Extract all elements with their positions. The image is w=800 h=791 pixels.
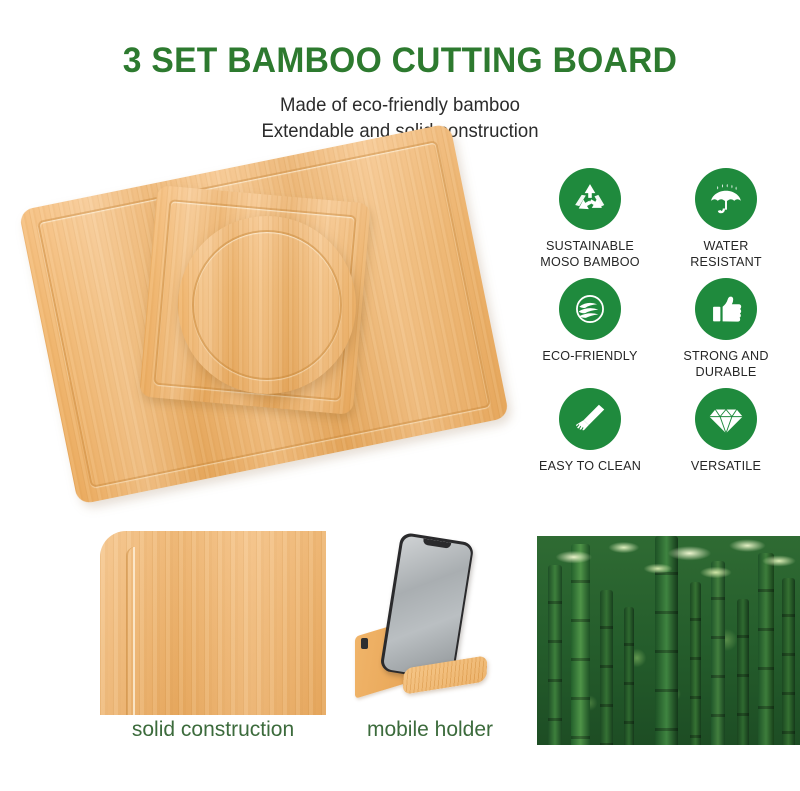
caption-solid-construction: solid construction <box>100 718 326 742</box>
holder-tab-left <box>361 638 368 649</box>
feature-label: VERSATILE <box>660 458 792 474</box>
caption-mobile-holder: mobile holder <box>345 718 515 742</box>
phone-screen <box>382 535 471 679</box>
bamboo-forest-photo <box>537 536 800 745</box>
feature-label: EASY TO CLEAN <box>524 458 656 474</box>
feature-eco-friendly: ECO-FRIENDLY <box>524 278 656 380</box>
eco-leaf-icon <box>559 278 621 340</box>
solid-construction-photo <box>100 531 326 715</box>
phone-notch <box>423 538 452 548</box>
page-title: 3 SET BAMBOO CUTTING BOARD <box>16 43 784 80</box>
subtitle-line-1: Made of eco-friendly bamboo <box>20 93 780 119</box>
board-wood-surface <box>178 216 356 394</box>
product-hero-image <box>38 160 528 525</box>
recycle-icon <box>559 168 621 230</box>
feature-label: ECO-FRIENDLY <box>524 348 656 364</box>
feature-label: SUSTAINABLE MOSO BAMBOO <box>524 238 656 270</box>
juice-groove <box>192 230 342 380</box>
mobile-holder-photo <box>345 531 515 715</box>
feature-easy-to-clean: EASY TO CLEAN <box>524 388 656 474</box>
feature-label: STRONG AND DURABLE <box>660 348 792 380</box>
diamond-icon <box>695 388 757 450</box>
feature-water-resistant: WATER RESISTANT <box>660 168 792 270</box>
feature-versatile: VERSATILE <box>660 388 792 474</box>
feature-label: WATER RESISTANT <box>660 238 792 270</box>
umbrella-icon <box>695 168 757 230</box>
juice-groove <box>126 547 135 715</box>
thumbs-up-icon <box>695 278 757 340</box>
feature-strong-and-durable: STRONG AND DURABLE <box>660 278 792 380</box>
header: 3 SET BAMBOO CUTTING BOARD Made of eco-f… <box>0 0 800 145</box>
feature-badge-grid: SUSTAINABLE MOSO BAMBOO WATER RESISTANT <box>524 168 792 475</box>
round-board <box>178 216 356 394</box>
brush-icon <box>559 388 621 450</box>
feature-sustainable-moso-bamboo: SUSTAINABLE MOSO BAMBOO <box>524 168 656 270</box>
bamboo-canopy-leaves <box>537 536 800 632</box>
